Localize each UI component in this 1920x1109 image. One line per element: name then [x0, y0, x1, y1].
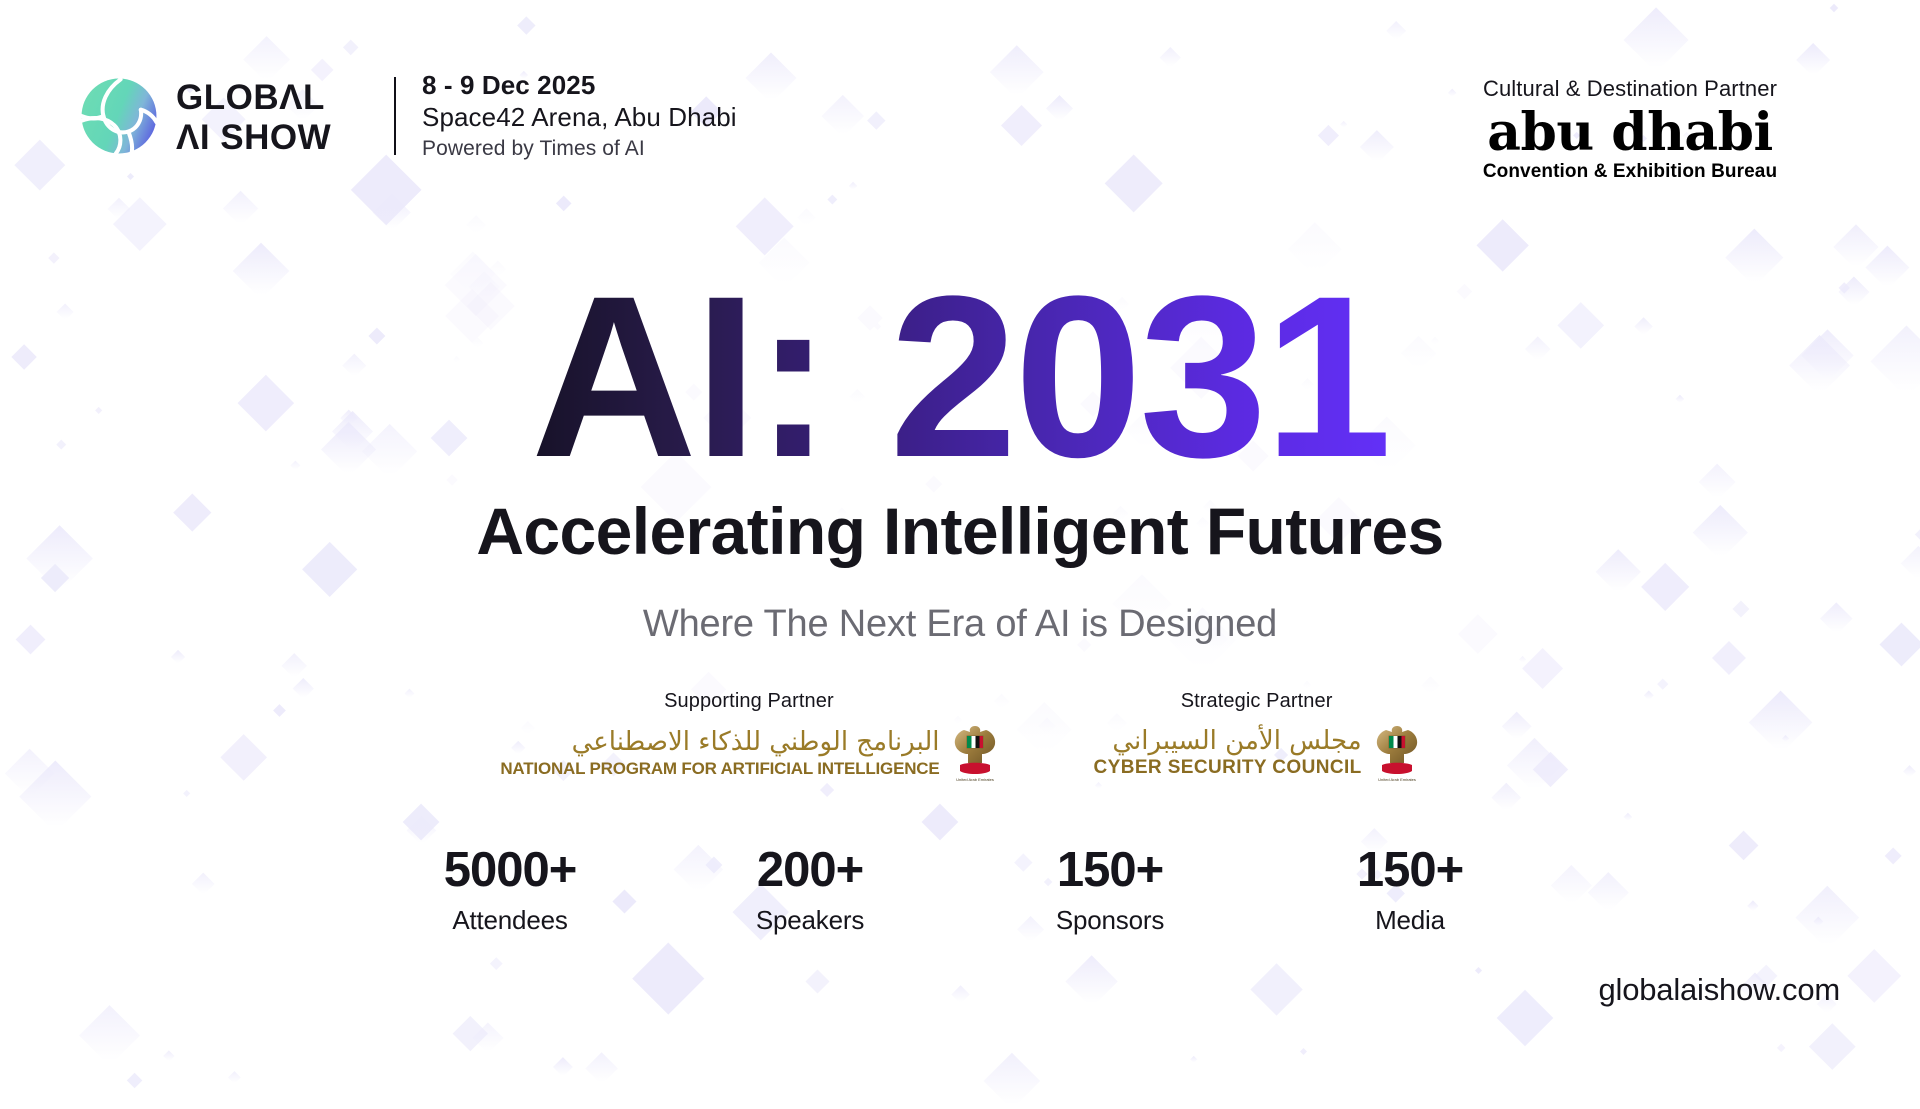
hero-subtitle: Accelerating Intelligent Futures — [476, 493, 1443, 569]
brand-wordmark: GLOBΛL ΛI SHOW — [176, 77, 368, 155]
globe-logo-icon — [80, 77, 158, 155]
stat-sponsors: 150+ Sponsors — [960, 845, 1260, 936]
partner-label: Strategic Partner — [1181, 690, 1333, 713]
stat-label: Speakers — [660, 905, 960, 936]
emblem-caption: United Arab Emirates — [1378, 777, 1416, 782]
partners-row: Supporting Partner البرنامج الوطني للذكا… — [500, 690, 1419, 783]
emblem-caption: United Arab Emirates — [956, 777, 994, 782]
page-header: GLOBΛL ΛI SHOW 8 - 9 Dec 2025 Space42 Ar… — [0, 0, 1920, 200]
wordmark-line-2: ΛI SHOW — [176, 118, 331, 155]
stat-media: 150+ Media — [1260, 845, 1560, 936]
cyber-security-council-logo[interactable]: مجلس الأمن السيبراني CYBER SECURITY COUN… — [1094, 723, 1420, 783]
stat-label: Attendees — [360, 905, 660, 936]
event-details: 8 - 9 Dec 2025 Space42 Arena, Abu Dhabi … — [422, 70, 737, 163]
stat-label: Media — [1260, 905, 1560, 936]
partner-strategic: Strategic Partner مجلس الأمن السيبراني C… — [1094, 690, 1420, 783]
event-date: 8 - 9 Dec 2025 — [422, 70, 737, 102]
partner-english-name: CYBER SECURITY COUNCIL — [1094, 757, 1362, 780]
uae-falcon-emblem-icon: United Arab Emirates — [952, 723, 998, 783]
event-powered-by: Powered by Times of AI — [422, 135, 737, 162]
hero-tagline: Where The Next Era of AI is Designed — [643, 603, 1277, 646]
abu-dhabi-logo[interactable]: abu dhabi Convention & Exhibition Bureau — [1420, 107, 1840, 183]
stat-value: 150+ — [960, 845, 1260, 896]
partner-supporting: Supporting Partner البرنامج الوطني للذكا… — [500, 690, 997, 783]
brand-divider — [394, 77, 396, 155]
stat-value: 200+ — [660, 845, 960, 896]
stat-value: 5000+ — [360, 845, 660, 896]
cultural-destination-partner: Cultural & Destination Partner abu dhabi… — [1420, 76, 1840, 183]
partner-english-name: NATIONAL PROGRAM FOR ARTIFICIAL INTELLIG… — [500, 759, 939, 779]
abu-dhabi-wordmark: abu dhabi — [1420, 107, 1840, 159]
stat-value: 150+ — [1260, 845, 1560, 896]
partner-label: Supporting Partner — [664, 690, 834, 713]
stat-speakers: 200+ Speakers — [660, 845, 960, 936]
uae-falcon-emblem-icon: United Arab Emirates — [1374, 723, 1420, 783]
stats-row: 5000+ Attendees 200+ Speakers 150+ Spons… — [360, 845, 1560, 936]
stat-attendees: 5000+ Attendees — [360, 845, 660, 936]
event-venue: Space42 Arena, Abu Dhabi — [422, 102, 737, 134]
partner-arabic-name: مجلس الأمن السيبراني — [1094, 725, 1362, 758]
page-title: AI: 2031 — [531, 268, 1389, 487]
abu-dhabi-sub: Convention & Exhibition Bureau — [1420, 161, 1840, 183]
partner-arabic-name: البرنامج الوطني للذكاء الاصطناعي — [500, 726, 939, 759]
brand-lockup[interactable]: GLOBΛL ΛI SHOW 8 - 9 Dec 2025 Space42 Ar… — [80, 70, 737, 163]
wordmark-line-1: GLOBΛL — [176, 78, 325, 117]
cultural-partner-label: Cultural & Destination Partner — [1420, 76, 1840, 102]
stat-label: Sponsors — [960, 905, 1260, 936]
website-url[interactable]: globalaishow.com — [1598, 972, 1840, 1008]
national-program-ai-logo[interactable]: البرنامج الوطني للذكاء الاصطناعي NATIONA… — [500, 723, 997, 783]
